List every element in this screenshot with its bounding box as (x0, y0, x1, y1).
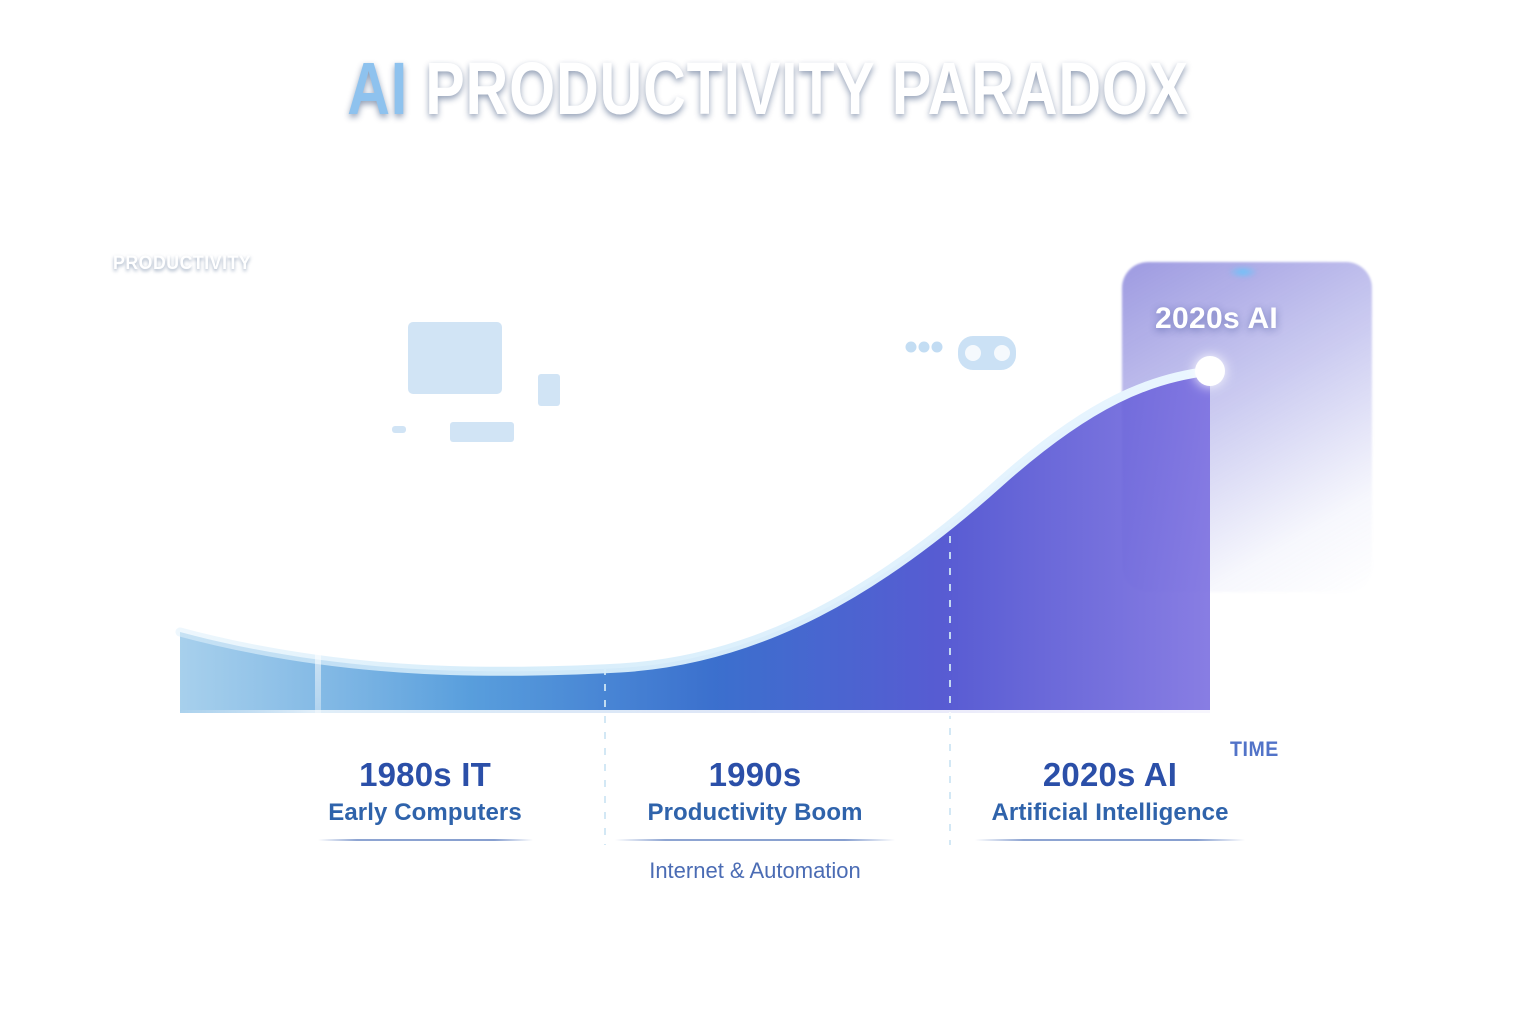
era-title: 2020s AI (965, 757, 1255, 793)
era-block-1990s: 1990s Productivity Boom Internet & Autom… (600, 757, 910, 884)
era-subtitle: Artificial Intelligence (965, 800, 1255, 827)
era-divider (975, 839, 1245, 841)
infographic-canvas: AI PRODUCTIVITY PARADOX (0, 0, 1536, 1024)
era-divider (318, 839, 533, 841)
era-divider (615, 839, 895, 841)
era-note: Internet & Automation (600, 858, 910, 884)
era-block-2020s: 2020s AI Artificial Intelligence (965, 757, 1255, 858)
era-subtitle: Productivity Boom (600, 800, 910, 827)
era-subtitle: Early Computers (290, 800, 560, 827)
y-axis (299, 241, 337, 716)
era-title: 1990s (600, 757, 910, 793)
y-axis-label: PRODUCTIVITY (113, 253, 251, 275)
endpoint-annotation-label: 2020s AI (1155, 302, 1278, 336)
era-title: 1980s IT (290, 757, 560, 793)
era-block-1980s: 1980s IT Early Computers (290, 757, 560, 858)
endpoint-marker-dot (1195, 356, 1225, 386)
